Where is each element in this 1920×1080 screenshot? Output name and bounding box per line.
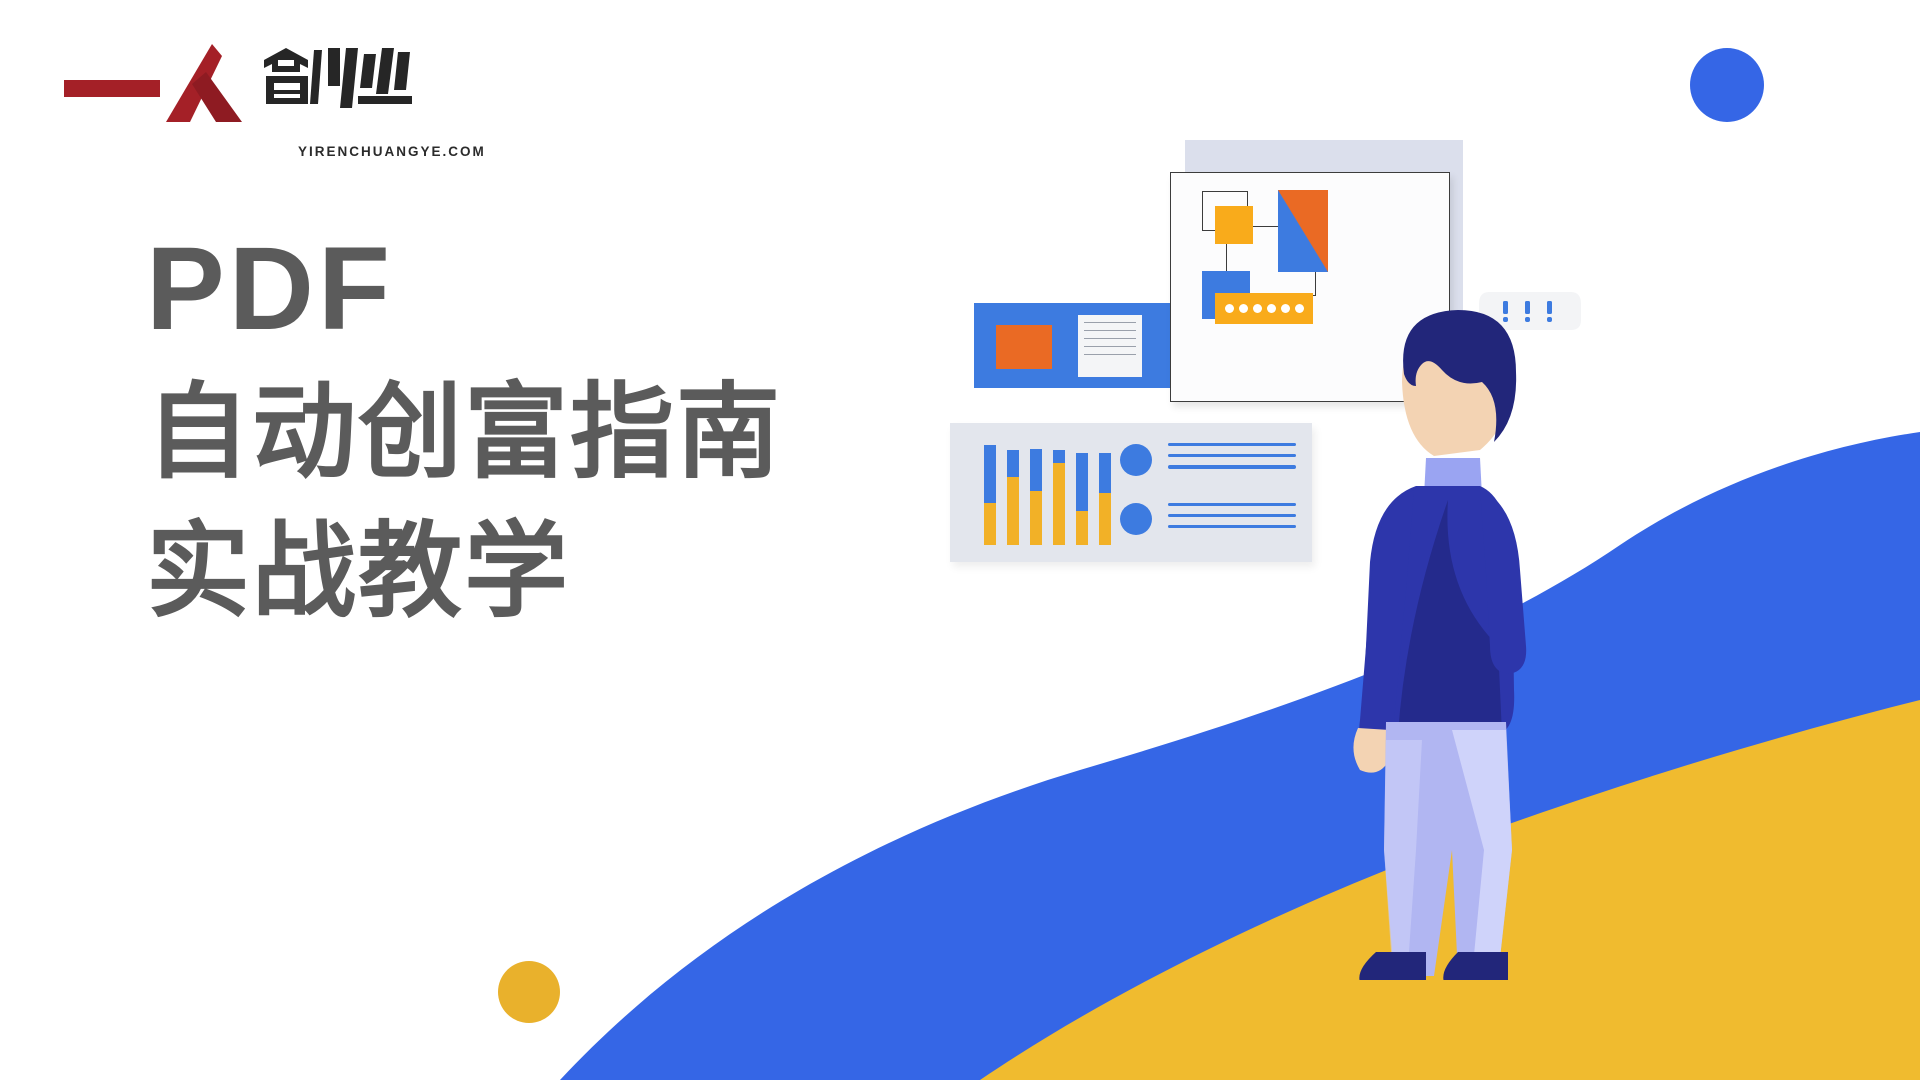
page-title: PDF 自动创富指南 实战教学 <box>146 230 946 638</box>
chart-bar-segment-bottom <box>1007 477 1019 545</box>
chart-bar-segment-bottom <box>1076 511 1088 545</box>
whiteboard-yellow-dot-bar <box>1215 293 1313 324</box>
chart-card-legend-block <box>1120 443 1296 562</box>
yiren-chuangye-logo-icon <box>62 44 252 122</box>
whiteboard-yellow-block <box>1215 206 1253 244</box>
chart-bar-segment-top <box>984 445 996 503</box>
standing-person-illustration <box>1330 290 1590 980</box>
orange-square-icon <box>996 325 1052 369</box>
chart-bar <box>1007 450 1019 545</box>
chart-bar-segment-top <box>1053 450 1065 463</box>
hero-illustration <box>930 120 1920 1080</box>
chart-bar-segment-top <box>1076 453 1088 511</box>
headline-line-three: 实战教学 <box>146 505 946 638</box>
poster-canvas: YIRENCHUANGYE.COM PDF 自动创富指南 实战教学 <box>0 0 1920 1080</box>
chart-bar-segment-bottom <box>1053 463 1065 545</box>
chart-bar <box>1053 450 1065 545</box>
chart-bar-segment-top <box>1099 453 1111 493</box>
stacked-bar-chart <box>984 445 1111 545</box>
person-shoe-right <box>1443 952 1508 980</box>
lined-page-icon <box>1078 315 1142 377</box>
whiteboard-split-panel <box>1278 190 1328 272</box>
chart-bar-segment-bottom <box>1030 491 1042 545</box>
stacked-bar-chart-card <box>950 423 1312 562</box>
chart-bar <box>984 445 996 545</box>
text-placeholder-lines <box>1168 503 1296 537</box>
chart-bar <box>1076 453 1088 545</box>
person-hand <box>1353 728 1390 773</box>
blue-bullet-circle-icon <box>1120 503 1152 535</box>
chart-bar-segment-top <box>1030 449 1042 491</box>
brand-url: YIRENCHUANGYE.COM <box>298 144 486 159</box>
headline-line-two: 自动创富指南 <box>146 366 946 499</box>
chart-bar <box>1030 449 1042 545</box>
person-shoe-left <box>1359 952 1426 980</box>
blue-document-card <box>974 303 1170 388</box>
logo-chuangye-characters-icon <box>260 46 420 108</box>
chart-bar-segment-top <box>1007 450 1019 477</box>
yellow-circle <box>498 961 560 1023</box>
list-item <box>1120 443 1296 477</box>
chart-bar-segment-bottom <box>1099 493 1111 545</box>
blue-circle <box>1690 48 1764 122</box>
chart-bar-segment-bottom <box>984 503 996 545</box>
headline-line-pdf: PDF <box>146 230 946 348</box>
chart-bar <box>1099 453 1111 545</box>
blue-bullet-circle-icon <box>1120 444 1152 476</box>
brand-logo[interactable]: YIRENCHUANGYE.COM <box>62 44 372 130</box>
list-item <box>1120 503 1296 537</box>
text-placeholder-lines <box>1168 443 1296 477</box>
